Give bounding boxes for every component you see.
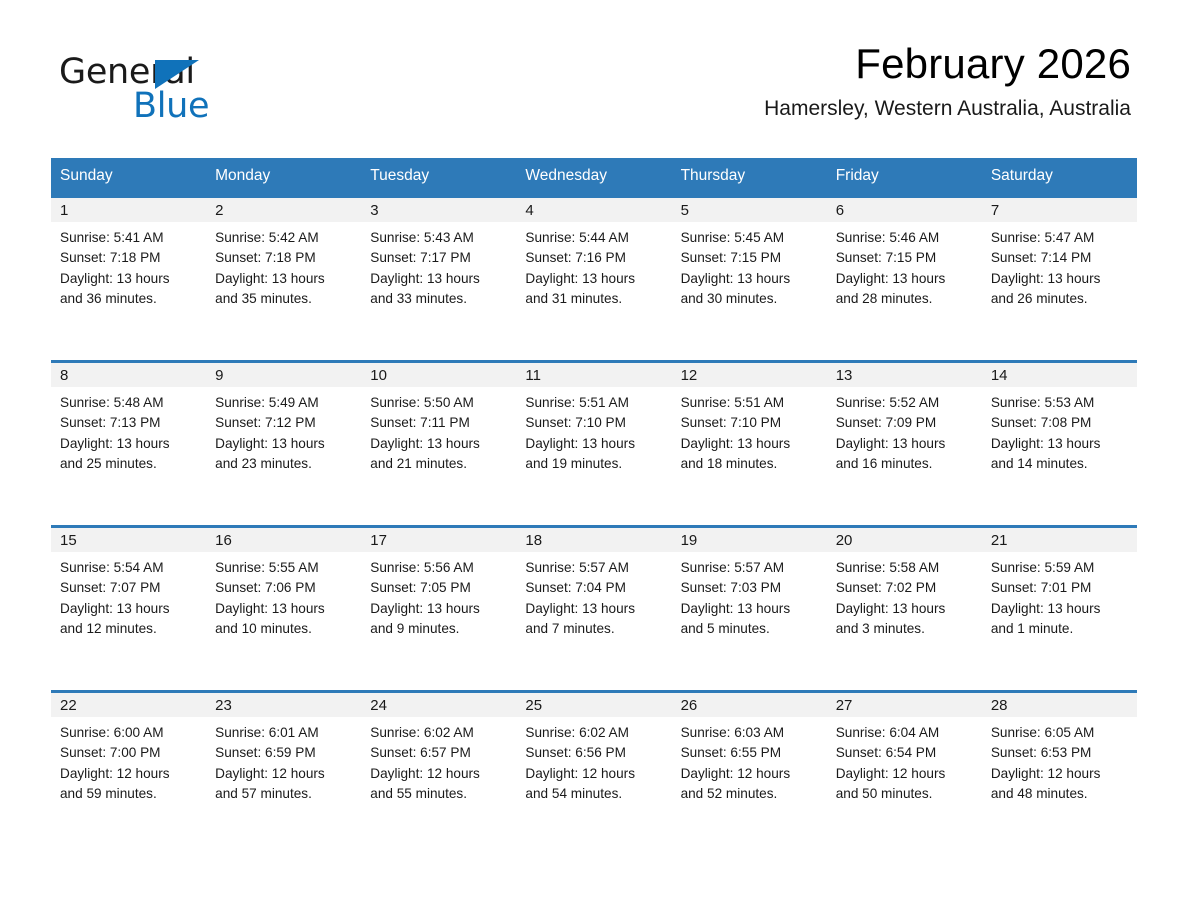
daylight-text-line2: and 7 minutes. <box>525 619 665 639</box>
day-number: 9 <box>206 363 361 387</box>
daylight-text-line1: Daylight: 13 hours <box>60 269 200 289</box>
day-cell[interactable]: 24 Sunrise: 6:02 AM Sunset: 6:57 PM Dayl… <box>361 692 516 856</box>
day-number: 11 <box>516 363 671 387</box>
sunset-text: Sunset: 7:05 PM <box>370 578 510 598</box>
day-details: Sunrise: 5:51 AM Sunset: 7:10 PM Dayligh… <box>672 387 827 475</box>
sunrise-text: Sunrise: 5:57 AM <box>681 558 821 578</box>
daylight-text-line2: and 48 minutes. <box>991 784 1131 804</box>
daylight-text-line1: Daylight: 13 hours <box>836 599 976 619</box>
daylight-text-line2: and 12 minutes. <box>60 619 200 639</box>
daylight-text-line1: Daylight: 13 hours <box>991 434 1131 454</box>
day-number: 7 <box>982 198 1137 222</box>
day-cell[interactable]: 14 Sunrise: 5:53 AM Sunset: 7:08 PM Dayl… <box>982 362 1137 527</box>
daylight-text-line1: Daylight: 12 hours <box>60 764 200 784</box>
day-details: Sunrise: 5:57 AM Sunset: 7:03 PM Dayligh… <box>672 552 827 640</box>
day-number: 1 <box>51 198 206 222</box>
sunset-text: Sunset: 7:15 PM <box>681 248 821 268</box>
sunrise-text: Sunrise: 5:51 AM <box>525 393 665 413</box>
day-details: Sunrise: 5:42 AM Sunset: 7:18 PM Dayligh… <box>206 222 361 310</box>
sunrise-text: Sunrise: 5:52 AM <box>836 393 976 413</box>
title-block: February 2026 Hamersley, Western Austral… <box>764 40 1131 121</box>
day-details: Sunrise: 6:04 AM Sunset: 6:54 PM Dayligh… <box>827 717 982 805</box>
day-details: Sunrise: 5:48 AM Sunset: 7:13 PM Dayligh… <box>51 387 206 475</box>
day-details: Sunrise: 6:00 AM Sunset: 7:00 PM Dayligh… <box>51 717 206 805</box>
daylight-text-line1: Daylight: 13 hours <box>215 599 355 619</box>
day-details: Sunrise: 5:55 AM Sunset: 7:06 PM Dayligh… <box>206 552 361 640</box>
day-cell[interactable]: 28 Sunrise: 6:05 AM Sunset: 6:53 PM Dayl… <box>982 692 1137 856</box>
daylight-text-line2: and 1 minute. <box>991 619 1131 639</box>
day-cell[interactable]: 27 Sunrise: 6:04 AM Sunset: 6:54 PM Dayl… <box>827 692 982 856</box>
day-cell[interactable]: 6 Sunrise: 5:46 AM Sunset: 7:15 PM Dayli… <box>827 197 982 362</box>
sunrise-text: Sunrise: 6:02 AM <box>525 723 665 743</box>
sunset-text: Sunset: 7:07 PM <box>60 578 200 598</box>
daylight-text-line1: Daylight: 13 hours <box>681 434 821 454</box>
day-number: 28 <box>982 693 1137 717</box>
day-details: Sunrise: 6:02 AM Sunset: 6:56 PM Dayligh… <box>516 717 671 805</box>
daylight-text-line1: Daylight: 13 hours <box>525 434 665 454</box>
day-details: Sunrise: 5:41 AM Sunset: 7:18 PM Dayligh… <box>51 222 206 310</box>
sunset-text: Sunset: 6:54 PM <box>836 743 976 763</box>
daylight-text-line1: Daylight: 13 hours <box>215 269 355 289</box>
calendar-body: 1 Sunrise: 5:41 AM Sunset: 7:18 PM Dayli… <box>51 197 1137 856</box>
day-cell[interactable]: 3 Sunrise: 5:43 AM Sunset: 7:17 PM Dayli… <box>361 197 516 362</box>
weekday-header-thursday: Thursday <box>672 158 827 197</box>
day-number: 4 <box>516 198 671 222</box>
location-subtitle: Hamersley, Western Australia, Australia <box>764 96 1131 121</box>
triangle-logo-icon <box>155 60 199 89</box>
sunset-text: Sunset: 7:11 PM <box>370 413 510 433</box>
sunset-text: Sunset: 7:06 PM <box>215 578 355 598</box>
day-cell[interactable]: 16 Sunrise: 5:55 AM Sunset: 7:06 PM Dayl… <box>206 527 361 692</box>
daylight-text-line1: Daylight: 13 hours <box>215 434 355 454</box>
day-details: Sunrise: 5:51 AM Sunset: 7:10 PM Dayligh… <box>516 387 671 475</box>
daylight-text-line1: Daylight: 13 hours <box>60 599 200 619</box>
day-number: 10 <box>361 363 516 387</box>
sunrise-text: Sunrise: 5:59 AM <box>991 558 1131 578</box>
sunrise-text: Sunrise: 5:51 AM <box>681 393 821 413</box>
daylight-text-line1: Daylight: 13 hours <box>681 269 821 289</box>
day-number: 27 <box>827 693 982 717</box>
day-cell[interactable]: 5 Sunrise: 5:45 AM Sunset: 7:15 PM Dayli… <box>672 197 827 362</box>
daylight-text-line2: and 14 minutes. <box>991 454 1131 474</box>
day-details: Sunrise: 6:03 AM Sunset: 6:55 PM Dayligh… <box>672 717 827 805</box>
sunrise-text: Sunrise: 5:41 AM <box>60 228 200 248</box>
sunrise-text: Sunrise: 5:57 AM <box>525 558 665 578</box>
sunset-text: Sunset: 7:14 PM <box>991 248 1131 268</box>
day-cell[interactable]: 23 Sunrise: 6:01 AM Sunset: 6:59 PM Dayl… <box>206 692 361 856</box>
daylight-text-line2: and 30 minutes. <box>681 289 821 309</box>
sunrise-text: Sunrise: 6:00 AM <box>60 723 200 743</box>
day-cell[interactable]: 15 Sunrise: 5:54 AM Sunset: 7:07 PM Dayl… <box>51 527 206 692</box>
day-cell[interactable]: 25 Sunrise: 6:02 AM Sunset: 6:56 PM Dayl… <box>516 692 671 856</box>
daylight-text-line2: and 28 minutes. <box>836 289 976 309</box>
calendar-week-row: 8 Sunrise: 5:48 AM Sunset: 7:13 PM Dayli… <box>51 362 1137 527</box>
daylight-text-line2: and 31 minutes. <box>525 289 665 309</box>
daylight-text-line2: and 33 minutes. <box>370 289 510 309</box>
daylight-text-line2: and 23 minutes. <box>215 454 355 474</box>
day-number: 8 <box>51 363 206 387</box>
day-number: 3 <box>361 198 516 222</box>
daylight-text-line2: and 16 minutes. <box>836 454 976 474</box>
day-details: Sunrise: 5:44 AM Sunset: 7:16 PM Dayligh… <box>516 222 671 310</box>
sunset-text: Sunset: 7:04 PM <box>525 578 665 598</box>
sunset-text: Sunset: 6:57 PM <box>370 743 510 763</box>
sunrise-text: Sunrise: 5:54 AM <box>60 558 200 578</box>
day-number: 22 <box>51 693 206 717</box>
daylight-text-line1: Daylight: 13 hours <box>370 599 510 619</box>
daylight-text-line2: and 9 minutes. <box>370 619 510 639</box>
logo-text-blue: Blue <box>133 89 209 124</box>
day-details: Sunrise: 5:52 AM Sunset: 7:09 PM Dayligh… <box>827 387 982 475</box>
day-details: Sunrise: 6:02 AM Sunset: 6:57 PM Dayligh… <box>361 717 516 805</box>
day-cell[interactable]: 26 Sunrise: 6:03 AM Sunset: 6:55 PM Dayl… <box>672 692 827 856</box>
daylight-text-line1: Daylight: 13 hours <box>836 269 976 289</box>
sunrise-text: Sunrise: 5:45 AM <box>681 228 821 248</box>
sunset-text: Sunset: 6:56 PM <box>525 743 665 763</box>
daylight-text-line1: Daylight: 12 hours <box>215 764 355 784</box>
day-details: Sunrise: 5:43 AM Sunset: 7:17 PM Dayligh… <box>361 222 516 310</box>
sunrise-sunset-calendar: Sunday Monday Tuesday Wednesday Thursday… <box>51 158 1137 855</box>
day-cell[interactable]: 13 Sunrise: 5:52 AM Sunset: 7:09 PM Dayl… <box>827 362 982 527</box>
calendar-week-row: 15 Sunrise: 5:54 AM Sunset: 7:07 PM Dayl… <box>51 527 1137 692</box>
sunrise-text: Sunrise: 5:49 AM <box>215 393 355 413</box>
daylight-text-line1: Daylight: 13 hours <box>525 599 665 619</box>
daylight-text-line2: and 59 minutes. <box>60 784 200 804</box>
sunrise-text: Sunrise: 5:48 AM <box>60 393 200 413</box>
sunset-text: Sunset: 6:53 PM <box>991 743 1131 763</box>
daylight-text-line1: Daylight: 13 hours <box>370 269 510 289</box>
sunrise-text: Sunrise: 5:58 AM <box>836 558 976 578</box>
sunrise-text: Sunrise: 6:05 AM <box>991 723 1131 743</box>
sunrise-text: Sunrise: 5:43 AM <box>370 228 510 248</box>
daylight-text-line1: Daylight: 13 hours <box>370 434 510 454</box>
daylight-text-line2: and 19 minutes. <box>525 454 665 474</box>
day-number: 17 <box>361 528 516 552</box>
day-details: Sunrise: 5:53 AM Sunset: 7:08 PM Dayligh… <box>982 387 1137 475</box>
daylight-text-line2: and 52 minutes. <box>681 784 821 804</box>
day-number: 2 <box>206 198 361 222</box>
day-details: Sunrise: 5:46 AM Sunset: 7:15 PM Dayligh… <box>827 222 982 310</box>
day-details: Sunrise: 5:56 AM Sunset: 7:05 PM Dayligh… <box>361 552 516 640</box>
sunset-text: Sunset: 7:13 PM <box>60 413 200 433</box>
day-details: Sunrise: 5:57 AM Sunset: 7:04 PM Dayligh… <box>516 552 671 640</box>
daylight-text-line2: and 21 minutes. <box>370 454 510 474</box>
sunset-text: Sunset: 7:18 PM <box>215 248 355 268</box>
daylight-text-line1: Daylight: 12 hours <box>991 764 1131 784</box>
sunset-text: Sunset: 6:59 PM <box>215 743 355 763</box>
sunset-text: Sunset: 7:12 PM <box>215 413 355 433</box>
sunset-text: Sunset: 7:10 PM <box>525 413 665 433</box>
day-cell[interactable]: 11 Sunrise: 5:51 AM Sunset: 7:10 PM Dayl… <box>516 362 671 527</box>
page-title: February 2026 <box>764 40 1131 88</box>
weekday-header-tuesday: Tuesday <box>361 158 516 197</box>
daylight-text-line2: and 54 minutes. <box>525 784 665 804</box>
day-number: 25 <box>516 693 671 717</box>
daylight-text-line2: and 25 minutes. <box>60 454 200 474</box>
sunset-text: Sunset: 7:02 PM <box>836 578 976 598</box>
daylight-text-line2: and 57 minutes. <box>215 784 355 804</box>
daylight-text-line2: and 55 minutes. <box>370 784 510 804</box>
day-details: Sunrise: 5:49 AM Sunset: 7:12 PM Dayligh… <box>206 387 361 475</box>
sunset-text: Sunset: 7:00 PM <box>60 743 200 763</box>
sunset-text: Sunset: 7:16 PM <box>525 248 665 268</box>
daylight-text-line1: Daylight: 12 hours <box>525 764 665 784</box>
sunrise-text: Sunrise: 5:46 AM <box>836 228 976 248</box>
day-number: 18 <box>516 528 671 552</box>
day-cell[interactable]: 18 Sunrise: 5:57 AM Sunset: 7:04 PM Dayl… <box>516 527 671 692</box>
calendar-week-row: 1 Sunrise: 5:41 AM Sunset: 7:18 PM Dayli… <box>51 197 1137 362</box>
daylight-text-line1: Daylight: 13 hours <box>991 269 1131 289</box>
sunset-text: Sunset: 7:17 PM <box>370 248 510 268</box>
day-cell[interactable]: 21 Sunrise: 5:59 AM Sunset: 7:01 PM Dayl… <box>982 527 1137 692</box>
sunrise-text: Sunrise: 6:01 AM <box>215 723 355 743</box>
day-cell[interactable]: 10 Sunrise: 5:50 AM Sunset: 7:11 PM Dayl… <box>361 362 516 527</box>
sunset-text: Sunset: 7:18 PM <box>60 248 200 268</box>
sunrise-text: Sunrise: 5:53 AM <box>991 393 1131 413</box>
day-number: 19 <box>672 528 827 552</box>
day-details: Sunrise: 6:05 AM Sunset: 6:53 PM Dayligh… <box>982 717 1137 805</box>
weekday-header-monday: Monday <box>206 158 361 197</box>
daylight-text-line1: Daylight: 13 hours <box>991 599 1131 619</box>
daylight-text-line1: Daylight: 13 hours <box>681 599 821 619</box>
day-details: Sunrise: 5:45 AM Sunset: 7:15 PM Dayligh… <box>672 222 827 310</box>
day-details: Sunrise: 5:54 AM Sunset: 7:07 PM Dayligh… <box>51 552 206 640</box>
day-cell[interactable]: 4 Sunrise: 5:44 AM Sunset: 7:16 PM Dayli… <box>516 197 671 362</box>
daylight-text-line2: and 3 minutes. <box>836 619 976 639</box>
weekday-header-saturday: Saturday <box>982 158 1137 197</box>
daylight-text-line1: Daylight: 13 hours <box>60 434 200 454</box>
sunset-text: Sunset: 6:55 PM <box>681 743 821 763</box>
sunset-text: Sunset: 7:09 PM <box>836 413 976 433</box>
daylight-text-line2: and 18 minutes. <box>681 454 821 474</box>
sunrise-text: Sunrise: 5:50 AM <box>370 393 510 413</box>
sunrise-text: Sunrise: 6:04 AM <box>836 723 976 743</box>
calendar-header-row: Sunday Monday Tuesday Wednesday Thursday… <box>51 158 1137 197</box>
daylight-text-line1: Daylight: 13 hours <box>525 269 665 289</box>
weekday-header-wednesday: Wednesday <box>516 158 671 197</box>
page-header: General Blue February 2026 Hamersley, We… <box>0 40 1188 150</box>
sunset-text: Sunset: 7:01 PM <box>991 578 1131 598</box>
daylight-text-line1: Daylight: 12 hours <box>681 764 821 784</box>
daylight-text-line2: and 5 minutes. <box>681 619 821 639</box>
daylight-text-line1: Daylight: 13 hours <box>836 434 976 454</box>
daylight-text-line2: and 35 minutes. <box>215 289 355 309</box>
day-details: Sunrise: 6:01 AM Sunset: 6:59 PM Dayligh… <box>206 717 361 805</box>
sunrise-text: Sunrise: 6:02 AM <box>370 723 510 743</box>
day-cell[interactable]: 9 Sunrise: 5:49 AM Sunset: 7:12 PM Dayli… <box>206 362 361 527</box>
day-number: 14 <box>982 363 1137 387</box>
sunrise-text: Sunrise: 5:44 AM <box>525 228 665 248</box>
sunrise-text: Sunrise: 5:56 AM <box>370 558 510 578</box>
day-number: 13 <box>827 363 982 387</box>
sunrise-text: Sunrise: 5:55 AM <box>215 558 355 578</box>
daylight-text-line2: and 50 minutes. <box>836 784 976 804</box>
day-number: 24 <box>361 693 516 717</box>
day-number: 6 <box>827 198 982 222</box>
generalblue-logo[interactable]: General Blue <box>59 55 319 141</box>
day-number: 15 <box>51 528 206 552</box>
daylight-text-line2: and 10 minutes. <box>215 619 355 639</box>
day-cell[interactable]: 12 Sunrise: 5:51 AM Sunset: 7:10 PM Dayl… <box>672 362 827 527</box>
calendar-week-row: 22 Sunrise: 6:00 AM Sunset: 7:00 PM Dayl… <box>51 692 1137 856</box>
day-number: 26 <box>672 693 827 717</box>
sunrise-text: Sunrise: 5:47 AM <box>991 228 1131 248</box>
day-cell[interactable]: 7 Sunrise: 5:47 AM Sunset: 7:14 PM Dayli… <box>982 197 1137 362</box>
day-number: 16 <box>206 528 361 552</box>
day-cell[interactable]: 19 Sunrise: 5:57 AM Sunset: 7:03 PM Dayl… <box>672 527 827 692</box>
day-cell[interactable]: 2 Sunrise: 5:42 AM Sunset: 7:18 PM Dayli… <box>206 197 361 362</box>
sunset-text: Sunset: 7:08 PM <box>991 413 1131 433</box>
daylight-text-line2: and 36 minutes. <box>60 289 200 309</box>
sunset-text: Sunset: 7:15 PM <box>836 248 976 268</box>
day-cell[interactable]: 17 Sunrise: 5:56 AM Sunset: 7:05 PM Dayl… <box>361 527 516 692</box>
sunset-text: Sunset: 7:03 PM <box>681 578 821 598</box>
day-number: 12 <box>672 363 827 387</box>
day-details: Sunrise: 5:50 AM Sunset: 7:11 PM Dayligh… <box>361 387 516 475</box>
daylight-text-line1: Daylight: 12 hours <box>370 764 510 784</box>
sunset-text: Sunset: 7:10 PM <box>681 413 821 433</box>
day-number: 23 <box>206 693 361 717</box>
day-number: 5 <box>672 198 827 222</box>
day-cell[interactable]: 20 Sunrise: 5:58 AM Sunset: 7:02 PM Dayl… <box>827 527 982 692</box>
day-cell[interactable]: 8 Sunrise: 5:48 AM Sunset: 7:13 PM Dayli… <box>51 362 206 527</box>
daylight-text-line2: and 26 minutes. <box>991 289 1131 309</box>
sunrise-text: Sunrise: 6:03 AM <box>681 723 821 743</box>
day-details: Sunrise: 5:59 AM Sunset: 7:01 PM Dayligh… <box>982 552 1137 640</box>
calendar-page: General Blue February 2026 Hamersley, We… <box>0 0 1188 918</box>
sunrise-text: Sunrise: 5:42 AM <box>215 228 355 248</box>
day-details: Sunrise: 5:47 AM Sunset: 7:14 PM Dayligh… <box>982 222 1137 310</box>
day-number: 20 <box>827 528 982 552</box>
weekday-header-sunday: Sunday <box>51 158 206 197</box>
weekday-header-friday: Friday <box>827 158 982 197</box>
day-number: 21 <box>982 528 1137 552</box>
day-details: Sunrise: 5:58 AM Sunset: 7:02 PM Dayligh… <box>827 552 982 640</box>
daylight-text-line1: Daylight: 12 hours <box>836 764 976 784</box>
day-cell[interactable]: 1 Sunrise: 5:41 AM Sunset: 7:18 PM Dayli… <box>51 197 206 362</box>
day-cell[interactable]: 22 Sunrise: 6:00 AM Sunset: 7:00 PM Dayl… <box>51 692 206 856</box>
